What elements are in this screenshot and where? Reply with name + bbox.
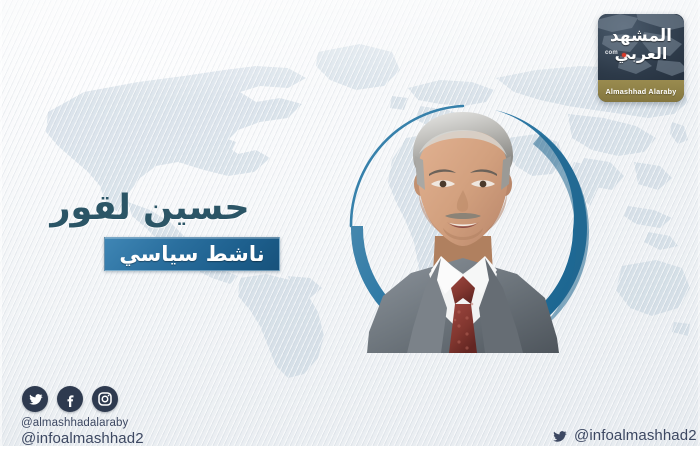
handle-primary: @almashhadalaraby [21,416,144,430]
social-icon-row [22,386,118,412]
logo-com-label: com [605,50,618,56]
channel-logo[interactable]: المشهد العربي com Almashhad Alaraby [598,14,684,102]
instagram-icon[interactable] [92,386,118,412]
social-media-card: حسين لقور ناشط سياسي المشهد [0,0,700,459]
watermark-handle: @infoalmashhad2 [551,428,697,444]
logo-arabic-text: المشهد العربي [598,28,684,62]
facebook-icon[interactable] [57,386,83,412]
twitter-icon [551,429,568,444]
bottom-white-strip [0,446,700,459]
logo-latin-name: Almashhad Alaraby [598,80,684,102]
twitter-icon[interactable] [22,386,48,412]
person-name: حسين لقور [20,188,280,228]
role-badge-label: ناشط سياسي [119,244,264,265]
social-handles: @almashhadalaraby @infoalmashhad2 [21,416,144,448]
left-edge-highlight [0,0,2,459]
watermark-text: @infoalmashhad2 [574,428,697,444]
role-badge: ناشط سياسي [104,237,280,271]
portrait-photo [367,98,559,353]
portrait-block [345,98,595,356]
logo-arabic-line-1: المشهد [598,28,684,45]
logo-panel: المشهد العربي com [598,14,684,80]
logo-red-dot [622,53,626,57]
